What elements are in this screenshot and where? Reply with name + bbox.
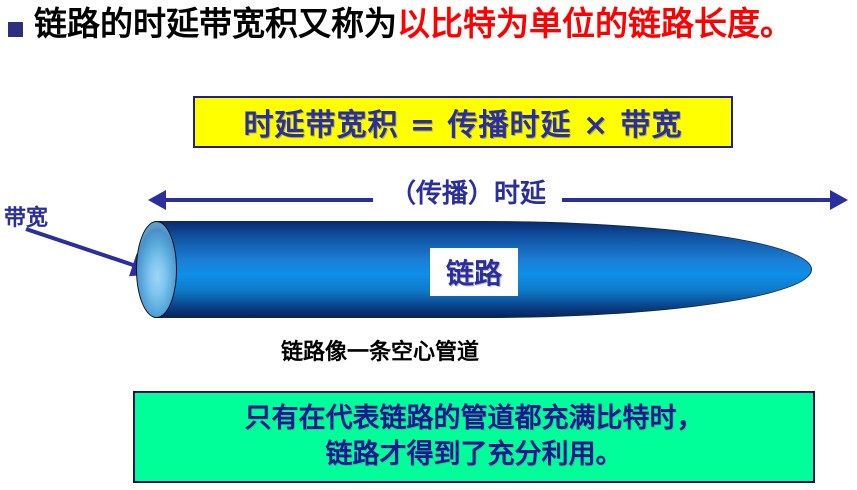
conclusion-box: 只有在代表链路的管道都充满比特时， 链路才得到了充分利用。 <box>133 391 815 483</box>
formula-text: 时延带宽积 = 传播时延 × 带宽 <box>243 100 682 144</box>
arrow-line-right <box>562 198 834 202</box>
slide-heading: 链路的时延带宽积又称为以比特为单位的链路长度。 <box>0 2 857 94</box>
pipe-caption: 链路像一条空心管道 <box>0 334 760 366</box>
heading-text: 链路的时延带宽积又称为以比特为单位的链路长度。 <box>34 2 854 46</box>
square-bullet-icon <box>8 22 23 37</box>
formula-box: 时延带宽积 = 传播时延 × 带宽 <box>193 96 733 148</box>
conclusion-line-1: 只有在代表链路的管道都充满比特时， <box>245 401 704 437</box>
arrow-head-right-icon <box>830 190 848 210</box>
link-pipe-cylinder: 链路 <box>136 219 816 321</box>
conclusion-line-2: 链路才得到了充分利用。 <box>326 437 623 473</box>
cylinder-left-cap-ellipse <box>136 221 177 318</box>
heading-text-highlight: 以比特为单位的链路长度。 <box>397 4 793 43</box>
arrow-line-left <box>163 198 373 202</box>
link-label-box: 链路 <box>430 248 518 296</box>
delay-arrow-label: （传播）时延 <box>373 173 563 210</box>
heading-text-plain: 链路的时延带宽积又称为 <box>34 4 397 43</box>
propagation-delay-arrow: （传播）时延 <box>0 168 857 218</box>
link-label-text: 链路 <box>446 252 502 292</box>
